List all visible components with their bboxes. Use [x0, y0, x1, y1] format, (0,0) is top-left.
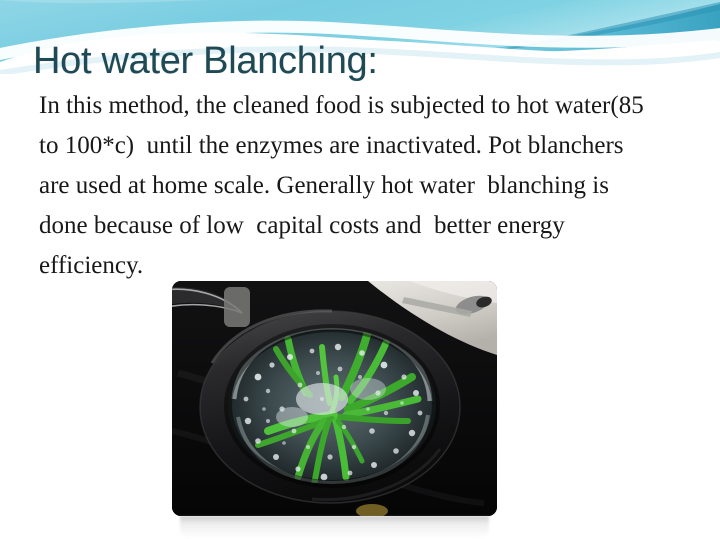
page-title: Hot water Blanching:: [33, 38, 378, 84]
wave-highlight: [0, 0, 210, 3]
wave-accent-line: [486, 2, 720, 52]
presentation-slide: Hot water Blanching: In this method, the…: [0, 0, 720, 539]
blanching-photo-graphic: [172, 281, 497, 516]
foam-patch-center: [296, 383, 348, 415]
slide-image-container: [172, 281, 497, 516]
stove-post: [224, 287, 250, 327]
foam-patch-right: [350, 378, 386, 400]
wave-ribbon-teal: [478, 4, 720, 52]
slide-body-text: In this method, the cleaned food is subj…: [39, 86, 655, 286]
foam-patch-left: [276, 407, 308, 427]
photo-reflection: [180, 516, 489, 538]
blanching-photo: [172, 281, 497, 516]
